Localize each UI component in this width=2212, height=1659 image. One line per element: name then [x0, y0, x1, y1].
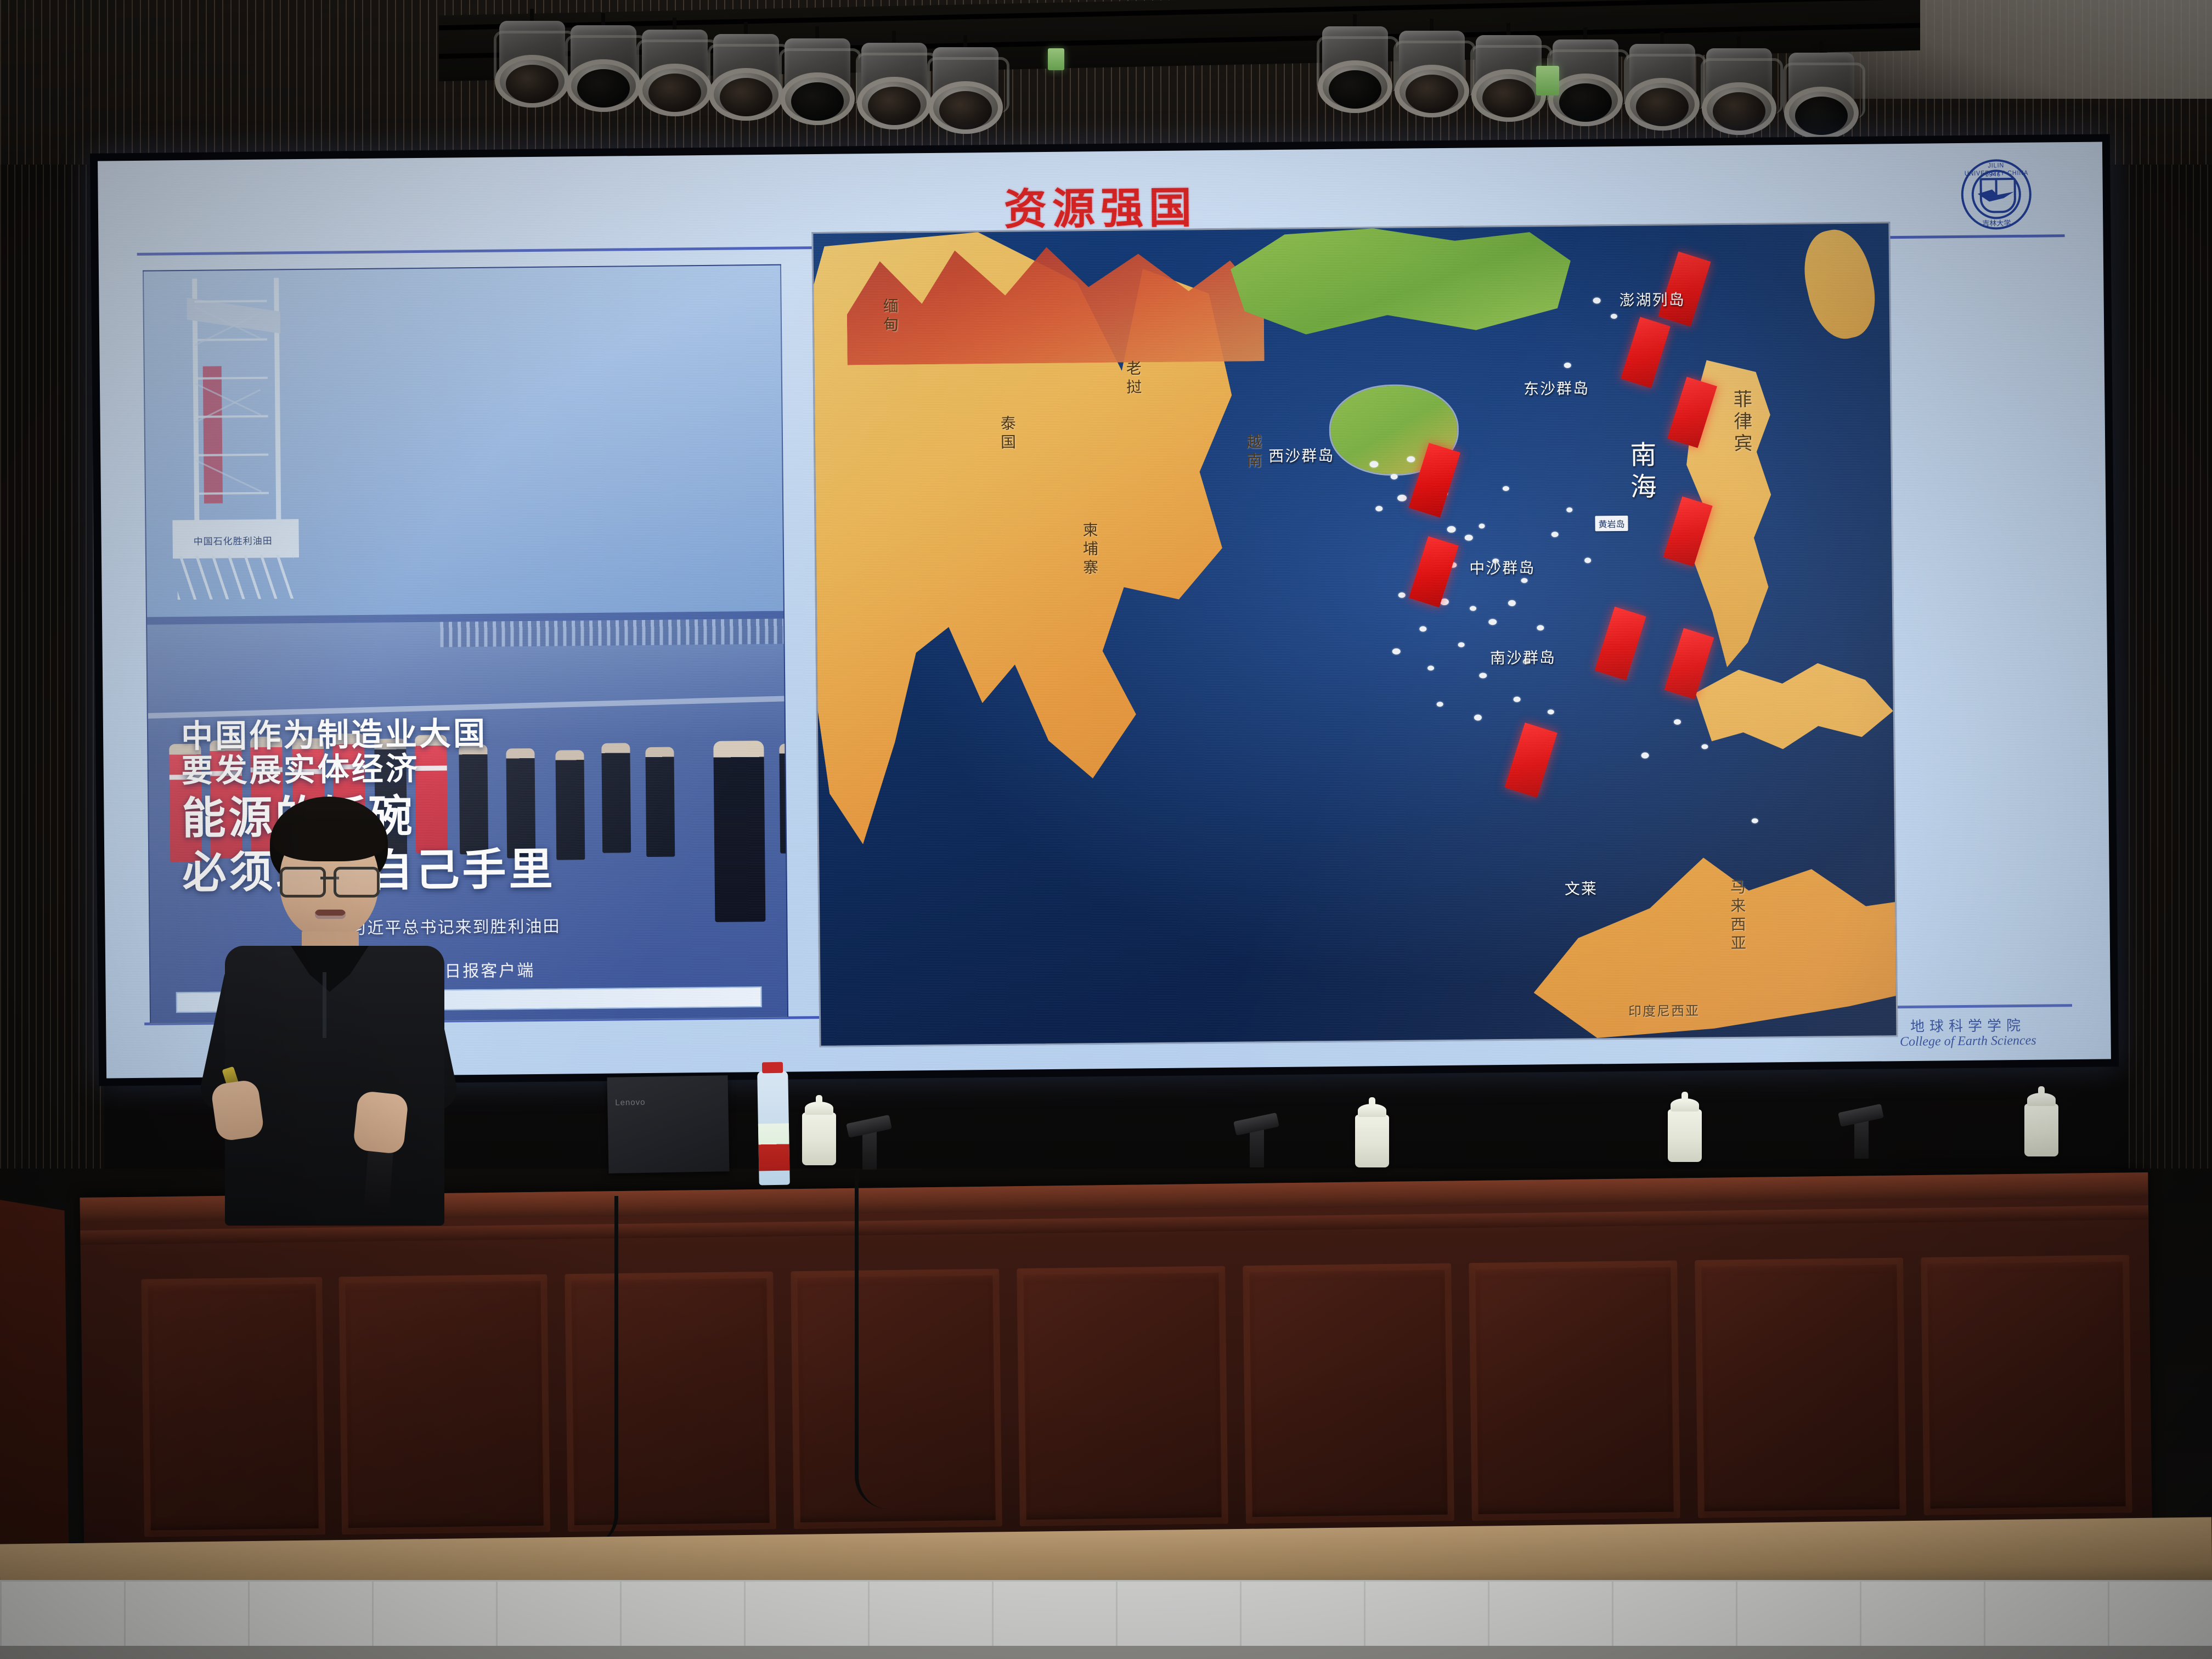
teacup-2[interactable] — [1355, 1115, 1389, 1167]
presenter-left-hand — [210, 1079, 265, 1142]
desk-microphone-1[interactable] — [862, 1130, 877, 1170]
photo-official-4 — [601, 743, 631, 853]
overlay-line-2: 要发展实体经济 — [181, 751, 555, 788]
screenshot-root: 资源强国 JILIN UNIVERSITY·CHINA 1946 吉林大学 — [0, 0, 2212, 1659]
slide-map-south-china-sea: 缅甸 老挝 泰国 越南 柬埔寨 菲律宾 文莱 马来西亚 印度尼西亚 澎湖列岛 东… — [811, 222, 1898, 1047]
photo-treeline — [440, 619, 784, 647]
floor-strip — [0, 1646, 2212, 1659]
map-pin-huangyan-island: 黄岩岛 — [1595, 516, 1628, 532]
teacup-3[interactable] — [1668, 1109, 1702, 1162]
presenter-right-hand — [353, 1090, 409, 1154]
map-islet — [1419, 626, 1426, 631]
bottle-label — [758, 1124, 789, 1171]
map-islet — [1593, 297, 1601, 303]
desk-panel-1 — [141, 1277, 325, 1537]
map-islet — [1611, 314, 1617, 319]
mic-cable-1 — [855, 1169, 924, 1509]
desk-microphone-3[interactable] — [1854, 1119, 1869, 1159]
desk-panel-9 — [1921, 1255, 2132, 1515]
map-islet — [1470, 606, 1476, 611]
stage-light-14 — [1783, 53, 1865, 143]
stage-light-8 — [1317, 26, 1399, 117]
map-islet — [1397, 495, 1407, 501]
stage-light-9 — [1393, 31, 1476, 121]
presenter-torso — [225, 946, 444, 1226]
jilin-university-logo: JILIN UNIVERSITY·CHINA 1946 吉林大学 — [1961, 159, 2032, 230]
map-islet — [1479, 673, 1487, 678]
map-islet — [1458, 642, 1465, 647]
map-islet — [1474, 714, 1482, 720]
map-islet — [1503, 486, 1509, 491]
map-islet — [1584, 557, 1591, 563]
map-islet — [1537, 625, 1544, 630]
logo-year: 1946 — [1985, 171, 2001, 178]
stage-light-2 — [565, 25, 647, 116]
map-islet — [1641, 752, 1649, 758]
drilling-rig: 中国石化胜利油田 — [170, 278, 300, 597]
laptop[interactable]: Lenovo — [607, 1075, 729, 1173]
logo-arc-bottom-text: 吉林大学 — [1961, 217, 2032, 228]
photo-official-6 — [779, 743, 788, 853]
map-islet — [1674, 719, 1681, 725]
photo-leader-figure — [713, 741, 765, 922]
map-label-zhongsha: 中沙群岛 — [1469, 556, 1535, 578]
stage-light-7 — [927, 47, 1009, 138]
map-islet — [1375, 506, 1383, 511]
map-islet — [1398, 592, 1406, 598]
presenter-fringe — [273, 819, 386, 861]
map-label-thailand: 泰国 — [996, 415, 1019, 452]
map-label-vietnam: 越南 — [1242, 433, 1265, 471]
map-islet — [1521, 578, 1527, 583]
exit-sign-icon — [1536, 66, 1559, 95]
map-islet — [1437, 702, 1443, 707]
desk-panel-7 — [1469, 1260, 1680, 1521]
laptop-brand-label: Lenovo — [615, 1098, 646, 1108]
desk-panel-2 — [338, 1274, 550, 1535]
desk-panel-8 — [1695, 1257, 1906, 1518]
map-islet — [1427, 665, 1434, 670]
stage-light-5 — [779, 38, 861, 129]
map-label-malaysia: 马来西亚 — [1726, 879, 1748, 953]
map-label-brunei: 文莱 — [1565, 877, 1598, 899]
rig-signage-text: 中国石化胜利油田 — [178, 533, 288, 550]
stage-light-3 — [636, 30, 719, 120]
map-islet — [1752, 819, 1758, 823]
map-islet — [1701, 744, 1708, 749]
stage-light-11 — [1547, 39, 1629, 130]
map-islet — [1369, 461, 1378, 467]
map-label-south-china-sea: 南海 — [1621, 441, 1660, 505]
map-label-dongsha: 东沙群岛 — [1523, 376, 1589, 399]
college-of-earth-sciences-mark: 地球科学学院 College of Earth Sciences — [1900, 1017, 2036, 1050]
photo-official-3 — [555, 750, 585, 860]
water-bottle[interactable] — [757, 1071, 790, 1186]
presenter — [193, 797, 478, 1224]
wall-slats-left — [0, 165, 104, 1196]
map-label-nansha: 南沙群岛 — [1490, 646, 1556, 668]
photo-official-5 — [645, 747, 675, 857]
stage-light-13 — [1701, 48, 1783, 139]
map-islet — [1407, 456, 1415, 462]
teacup-1[interactable] — [802, 1113, 836, 1165]
map-islet — [1391, 474, 1398, 479]
map-label-myanmar: 缅甸 — [879, 298, 901, 335]
stage-light-4 — [708, 34, 790, 125]
stage-light-12 — [1624, 44, 1706, 134]
map-label-laos: 老挝 — [1122, 360, 1144, 397]
map-islet — [1392, 648, 1401, 654]
presenter-mouth — [315, 910, 346, 919]
presenter-placket — [323, 972, 326, 1038]
bottle-cap — [762, 1062, 783, 1074]
map-islet — [1564, 363, 1571, 368]
map-islet — [1465, 535, 1473, 541]
map-islet — [1551, 532, 1559, 537]
indicator-light-icon — [1048, 48, 1064, 70]
college-mark-en: College of Earth Sciences — [1900, 1034, 2036, 1050]
stage-light-6 — [856, 43, 938, 133]
map-label-xisha: 西沙群岛 — [1268, 444, 1334, 466]
map-islet — [1488, 619, 1497, 625]
mic-cable-2 — [527, 1196, 618, 1547]
desk-panel-5 — [1017, 1266, 1228, 1527]
map-islet — [1447, 526, 1456, 533]
map-islet — [1479, 523, 1485, 528]
overlay-line-1: 中国作为制造业大国 — [181, 716, 555, 754]
map-label-penghu: 澎湖列岛 — [1619, 288, 1685, 311]
desk-panel-6 — [1243, 1263, 1454, 1524]
map-islet — [1508, 600, 1516, 606]
presenter-glasses — [280, 867, 380, 893]
college-mark-cn: 地球科学学院 — [1900, 1017, 2036, 1035]
map-islet — [1566, 507, 1572, 512]
stage-light-1 — [494, 21, 576, 111]
map-label-cambodia: 柬埔寨 — [1078, 522, 1101, 578]
map-label-philippines: 菲律宾 — [1728, 390, 1755, 455]
map-islet — [1514, 697, 1521, 702]
map-label-indonesia: 印度尼西亚 — [1628, 1000, 1700, 1020]
map-islet — [1548, 709, 1554, 714]
teacup-4[interactable] — [2024, 1104, 2058, 1156]
wall-slats-right — [2129, 165, 2212, 1196]
desk-microphone-2[interactable] — [1250, 1128, 1264, 1167]
